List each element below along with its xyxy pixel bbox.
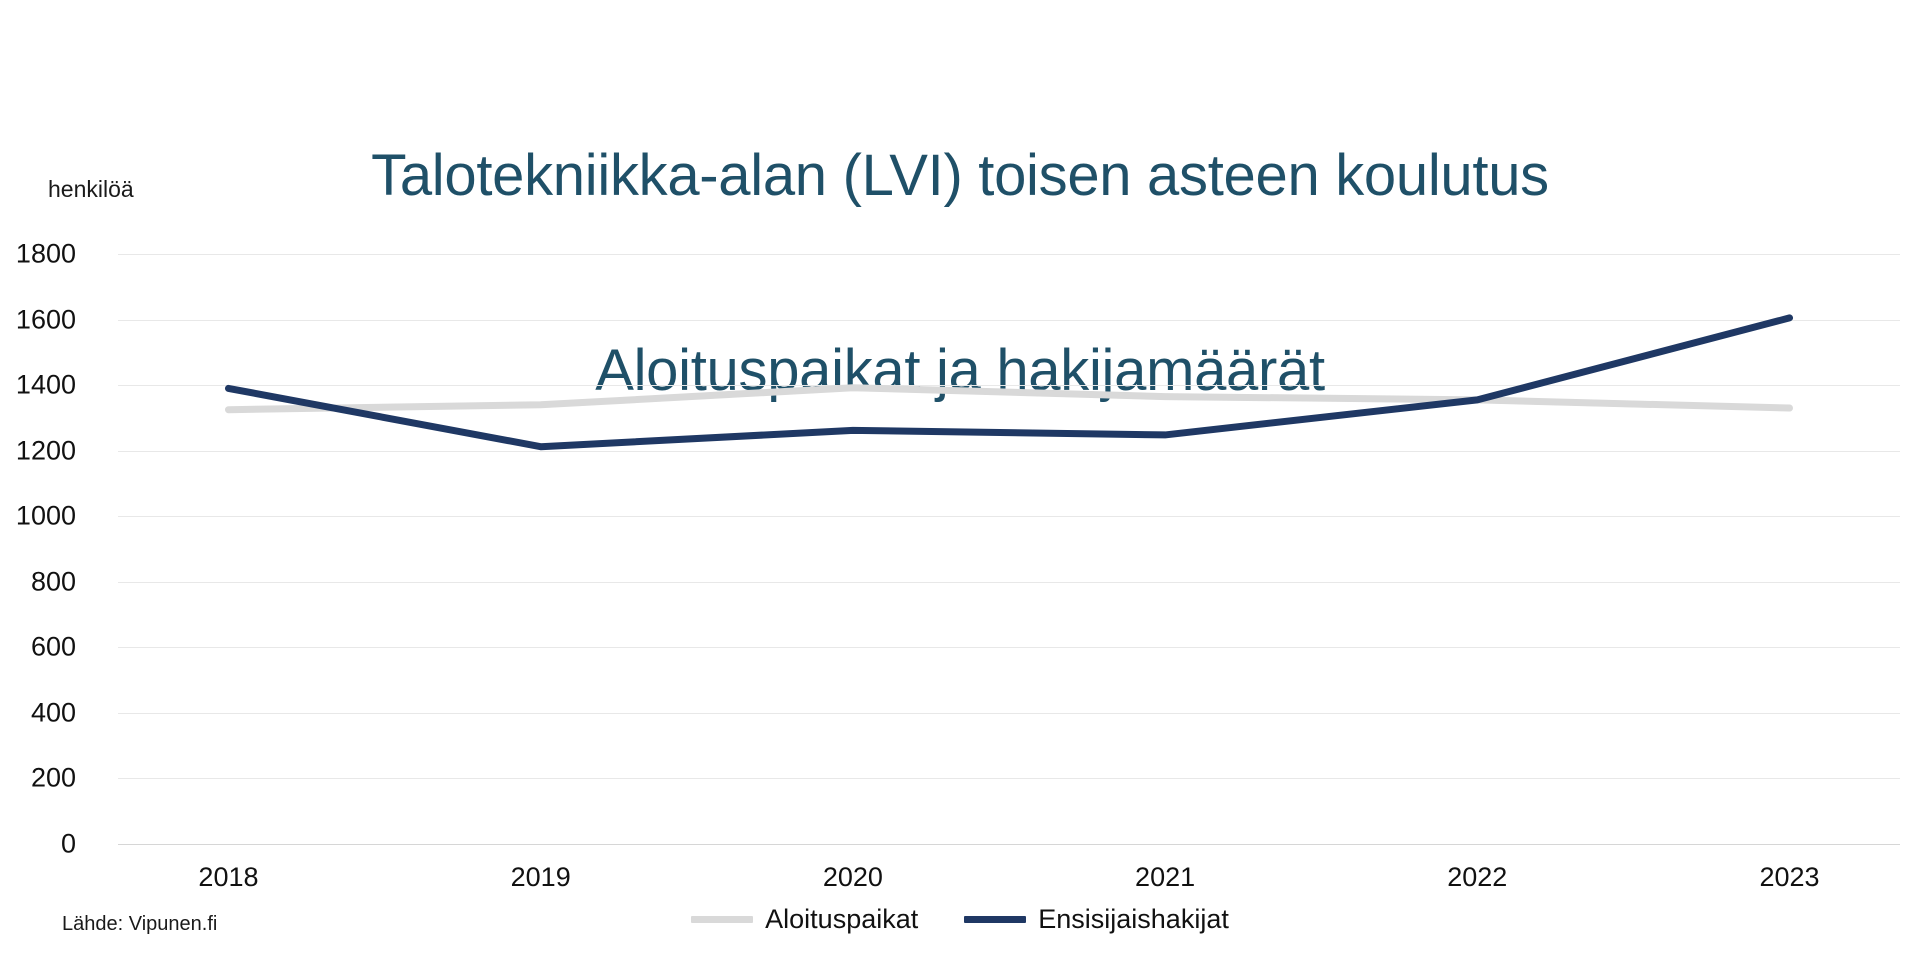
y-axis-tick-label: 1200: [0, 435, 76, 466]
legend-color-swatch: [691, 916, 753, 923]
source-note: Lähde: Vipunen.fi: [62, 913, 217, 936]
chart-legend: AloituspaikatEnsisijaishakijat: [0, 904, 1920, 935]
legend-item[interactable]: Ensisijaishakijat: [964, 904, 1229, 935]
y-axis-unit-label: henkilöä: [48, 176, 134, 203]
chart-container: Talotekniikka-alan (LVI) toisen asteen k…: [0, 0, 1920, 969]
y-axis-tick-label: 600: [0, 632, 76, 663]
series-line: [228, 318, 1789, 447]
legend-item[interactable]: Aloituspaikat: [691, 904, 918, 935]
y-axis-tick-label: 400: [0, 697, 76, 728]
x-axis-tick-label: 2021: [1085, 862, 1245, 893]
x-axis-tick-label: 2018: [148, 862, 308, 893]
legend-label: Aloituspaikat: [765, 904, 918, 935]
x-axis-tick-label: 2019: [461, 862, 621, 893]
y-axis-tick-label: 1600: [0, 304, 76, 335]
y-axis-tick-label: 0: [0, 829, 76, 860]
plot-area: 180016001400120010008006004002000 201820…: [118, 254, 1900, 844]
y-axis-tick-label: 1000: [0, 501, 76, 532]
x-axis-tick-label: 2022: [1397, 862, 1557, 893]
y-axis-tick-label: 1800: [0, 239, 76, 270]
x-axis-tick-label: 2023: [1710, 862, 1870, 893]
series-line: [228, 388, 1789, 410]
series-lines: [118, 254, 1900, 844]
x-axis-tick-label: 2020: [773, 862, 933, 893]
gridline: [118, 844, 1900, 845]
legend-label: Ensisijaishakijat: [1038, 904, 1229, 935]
chart-title-line-1: Talotekniikka-alan (LVI) toisen asteen k…: [0, 144, 1920, 209]
y-axis-tick-label: 1400: [0, 370, 76, 401]
legend-color-swatch: [964, 916, 1026, 923]
y-axis-tick-label: 200: [0, 763, 76, 794]
y-axis-tick-label: 800: [0, 566, 76, 597]
